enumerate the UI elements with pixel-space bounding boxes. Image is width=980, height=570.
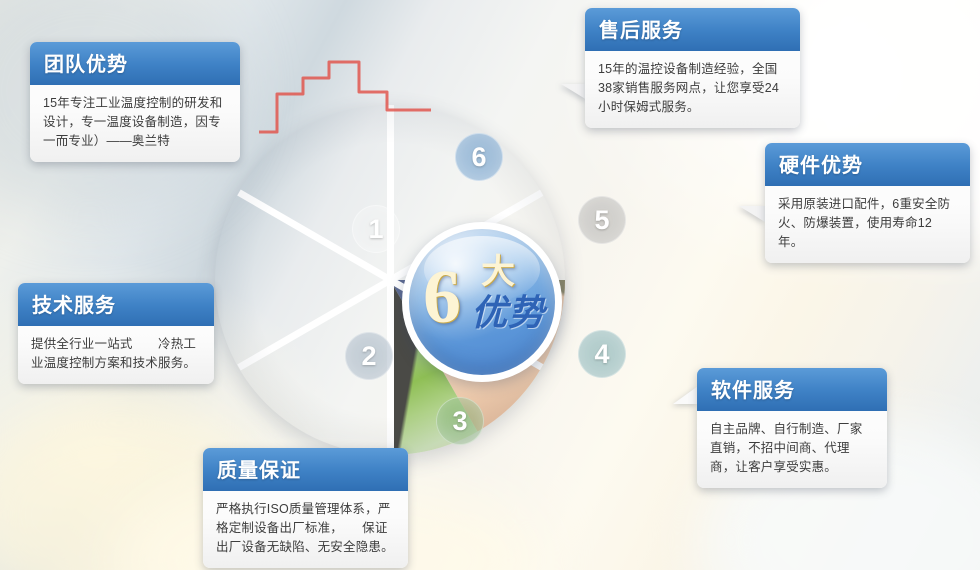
infographic-canvas: 1 2 3 4 5 6 6 大 优势 团队优势 15年专注工业温度控制的研发和设… — [0, 0, 980, 570]
segment-number-4[interactable]: 4 — [578, 330, 626, 378]
callout-card-after-sales-service[interactable]: 售后服务 15年的温控设备制造经验，全国38家销售服务网点，让您享受24小时保姆… — [585, 8, 800, 128]
card-body-quality: 严格执行ISO质量管理体系，严格定制设备出厂标准， 保证出厂设备无缺陷、无安全隐… — [203, 491, 408, 568]
segment-number-2[interactable]: 2 — [345, 332, 393, 380]
center-number-six: 6 — [423, 259, 461, 335]
card-body-after-sales: 15年的温控设备制造经验，全国38家销售服务网点，让您享受24小时保姆式服务。 — [585, 51, 800, 128]
center-hub-disc: 6 大 优势 — [409, 229, 555, 375]
segment-number-1[interactable]: 1 — [352, 205, 400, 253]
callout-tail-software — [673, 386, 698, 404]
segment-number-5[interactable]: 5 — [578, 196, 626, 244]
card-title-tech: 技术服务 — [18, 283, 214, 326]
callout-card-quality-assurance[interactable]: 质量保证 严格执行ISO质量管理体系，严格定制设备出厂标准， 保证出厂设备无缺陷… — [203, 448, 408, 568]
card-title-after-sales: 售后服务 — [585, 8, 800, 51]
segment-number-6[interactable]: 6 — [455, 133, 503, 181]
card-title-quality: 质量保证 — [203, 448, 408, 491]
callout-tail-hardware — [739, 206, 765, 222]
card-body-hardware: 采用原装进口配件，6重安全防火、防爆装置，使用寿命12年。 — [765, 186, 970, 263]
center-word-da: 大 — [481, 255, 515, 289]
segment-number-3[interactable]: 3 — [436, 397, 484, 445]
callout-card-hardware-advantage[interactable]: 硬件优势 采用原装进口配件，6重安全防火、防爆装置，使用寿命12年。 — [765, 143, 970, 263]
center-word-youshi: 优势 — [471, 295, 545, 331]
card-body-tech: 提供全行业一站式 冷热工业温度控制方案和技术服务。 — [18, 326, 214, 384]
card-title-software: 软件服务 — [697, 368, 887, 411]
wheel-divider — [387, 105, 394, 280]
callout-tail-after-sales — [561, 84, 587, 100]
callout-card-software-service[interactable]: 软件服务 自主品牌、自行制造、厂家直销，不招中间商、代理商，让客户享受实惠。 — [697, 368, 887, 488]
callout-card-team-advantage[interactable]: 团队优势 15年专注工业温度控制的研发和设计，专一温度设备制造，因专一而专业）—… — [30, 42, 240, 162]
callout-card-technical-service[interactable]: 技术服务 提供全行业一站式 冷热工业温度控制方案和技术服务。 — [18, 283, 214, 384]
card-body-team: 15年专注工业温度控制的研发和设计，专一温度设备制造，因专一而专业）——奥兰特 — [30, 85, 240, 162]
card-title-team: 团队优势 — [30, 42, 240, 85]
card-title-hardware: 硬件优势 — [765, 143, 970, 186]
card-body-software: 自主品牌、自行制造、厂家直销，不招中间商、代理商，让客户享受实惠。 — [697, 411, 887, 488]
center-hub[interactable]: 6 大 优势 — [402, 222, 562, 382]
